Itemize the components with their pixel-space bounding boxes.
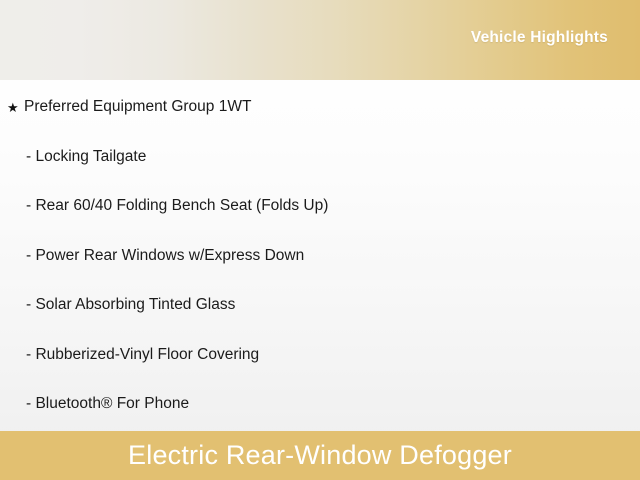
star-bullet-icon: ★ [0, 101, 24, 114]
list-item-label: - Rear 60/40 Folding Bench Seat (Folds U… [26, 198, 328, 214]
list-item: - Solar Absorbing Tinted Glass [0, 295, 640, 315]
vehicle-highlights-list: ★ Preferred Equipment Group 1WT - Lockin… [0, 80, 640, 431]
list-item-label: - Power Rear Windows w/Express Down [26, 248, 304, 264]
list-item: - Rear 60/40 Folding Bench Seat (Folds U… [0, 196, 640, 216]
list-item: - Bluetooth® For Phone [0, 394, 640, 414]
vehicle-highlights-slide: Vehicle Highlights ★ Preferred Equipment… [0, 0, 640, 480]
list-item-label: - Bluetooth® For Phone [26, 396, 189, 412]
footer-caption-bar: Electric Rear-Window Defogger [0, 431, 640, 480]
list-item: - Locking Tailgate [0, 147, 640, 167]
footer-caption-label: Electric Rear-Window Defogger [128, 442, 512, 469]
header-band: Vehicle Highlights [0, 0, 640, 80]
list-item-label: - Solar Absorbing Tinted Glass [26, 297, 235, 313]
list-item-label: - Rubberized-Vinyl Floor Covering [26, 347, 259, 363]
list-item-label: Preferred Equipment Group 1WT [24, 99, 251, 115]
page-title: Vehicle Highlights [471, 29, 608, 47]
list-item: - Rubberized-Vinyl Floor Covering [0, 345, 640, 365]
list-item: ★ Preferred Equipment Group 1WT [0, 97, 640, 117]
list-item: - Power Rear Windows w/Express Down [0, 246, 640, 266]
list-item-label: - Locking Tailgate [26, 149, 146, 165]
